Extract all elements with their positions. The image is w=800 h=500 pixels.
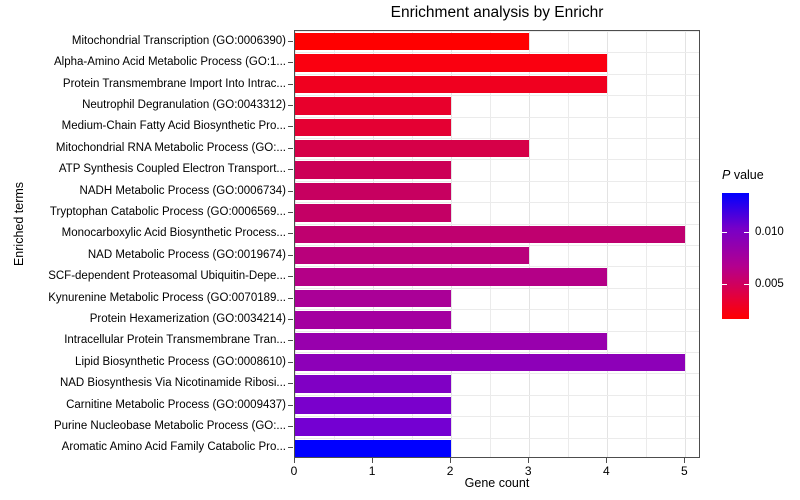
y-tick-labels: Mitochondrial Transcription (GO:0006390)… xyxy=(0,30,286,458)
y-tick-label: Protein Transmembrane Import Into Intrac… xyxy=(63,77,286,91)
x-tick-mark xyxy=(450,458,451,463)
bar xyxy=(295,54,607,72)
legend-tick-mark xyxy=(744,284,749,285)
y-tick-label: ATP Synthesis Coupled Electron Transport… xyxy=(59,162,286,176)
enrichment-bar-chart: Enrichment analysis by Enrichr Enriched … xyxy=(0,0,800,500)
y-tick-label: Mitochondrial RNA Metabolic Process (GO:… xyxy=(56,141,286,155)
bar xyxy=(295,119,451,137)
bars-group xyxy=(295,31,699,457)
y-tick-mark xyxy=(288,447,293,448)
y-tick-label: Alpha-Amino Acid Metabolic Process (GO:1… xyxy=(54,55,286,69)
y-tick-mark xyxy=(288,405,293,406)
bar xyxy=(295,440,451,458)
legend-tick-label: 0.010 xyxy=(755,226,784,238)
y-tick-mark xyxy=(288,191,293,192)
y-tick-mark xyxy=(288,255,293,256)
y-tick-mark xyxy=(288,362,293,363)
bar xyxy=(295,183,451,201)
bar xyxy=(295,76,607,94)
x-axis-title: Gene count xyxy=(294,476,700,490)
bar xyxy=(295,290,451,308)
plot-panel xyxy=(294,30,700,458)
bar xyxy=(295,97,451,115)
y-tick-label: Lipid Biosynthetic Process (GO:0008610) xyxy=(75,355,286,369)
bar xyxy=(295,140,529,158)
legend-title-rest: value xyxy=(730,168,763,182)
y-tick-mark xyxy=(288,105,293,106)
legend-tick-label: 0.005 xyxy=(755,278,784,290)
y-tick-label: Aromatic Amino Acid Family Catabolic Pro… xyxy=(62,440,286,454)
bar xyxy=(295,354,685,372)
legend-tick-mark xyxy=(722,232,727,233)
bar xyxy=(295,311,451,329)
bar xyxy=(295,226,685,244)
y-tick-label: SCF-dependent Proteasomal Ubiquitin-Depe… xyxy=(48,269,286,283)
legend-title: P value xyxy=(722,168,764,182)
y-tick-mark xyxy=(288,319,293,320)
y-tick-label: Purine Nucleobase Metabolic Process (GO:… xyxy=(54,419,286,433)
y-tick-mark xyxy=(288,426,293,427)
legend-tick-mark xyxy=(722,284,727,285)
bar xyxy=(295,33,529,51)
legend-tick-mark xyxy=(744,232,749,233)
y-tick-mark xyxy=(288,169,293,170)
y-tick-label: NAD Biosynthesis Via Nicotinamide Ribosi… xyxy=(60,376,286,390)
y-tick-mark xyxy=(288,62,293,63)
y-tick-label: Mitochondrial Transcription (GO:0006390) xyxy=(72,34,286,48)
x-tick-mark xyxy=(528,458,529,463)
y-tick-mark xyxy=(288,212,293,213)
y-tick-label: Monocarboxylic Acid Biosynthetic Process… xyxy=(62,226,286,240)
bar xyxy=(295,161,451,179)
y-tick-mark xyxy=(288,84,293,85)
legend-color-gradient xyxy=(722,193,749,319)
bar xyxy=(295,268,607,286)
y-tick-mark xyxy=(288,148,293,149)
y-tick-mark xyxy=(288,126,293,127)
y-tick-mark xyxy=(288,233,293,234)
x-tick-mark xyxy=(606,458,607,463)
x-tick-mark xyxy=(684,458,685,463)
y-tick-label: Neutrophil Degranulation (GO:0043312) xyxy=(82,98,286,112)
bar xyxy=(295,375,451,393)
y-tick-mark xyxy=(288,41,293,42)
y-tick-label: Protein Hexamerization (GO:0034214) xyxy=(90,312,286,326)
y-tick-label: Intracellular Protein Transmembrane Tran… xyxy=(64,333,286,347)
chart-title: Enrichment analysis by Enrichr xyxy=(294,3,700,23)
y-tick-label: Medium-Chain Fatty Acid Biosynthetic Pro… xyxy=(62,119,286,133)
y-tick-mark xyxy=(288,340,293,341)
bar xyxy=(295,418,451,436)
y-tick-mark xyxy=(288,298,293,299)
bar xyxy=(295,397,451,415)
y-tick-label: NADH Metabolic Process (GO:0006734) xyxy=(80,184,286,198)
y-tick-mark xyxy=(288,276,293,277)
bar xyxy=(295,204,451,222)
y-tick-label: Tryptophan Catabolic Process (GO:0006569… xyxy=(50,205,286,219)
x-tick-mark xyxy=(372,458,373,463)
y-tick-mark xyxy=(288,383,293,384)
y-tick-label: NAD Metabolic Process (GO:0019674) xyxy=(88,248,286,262)
bar xyxy=(295,333,607,351)
y-tick-label: Carnitine Metabolic Process (GO:0009437) xyxy=(66,398,286,412)
x-tick-mark xyxy=(294,458,295,463)
bar xyxy=(295,247,529,265)
y-tick-label: Kynurenine Metabolic Process (GO:0070189… xyxy=(48,291,286,305)
